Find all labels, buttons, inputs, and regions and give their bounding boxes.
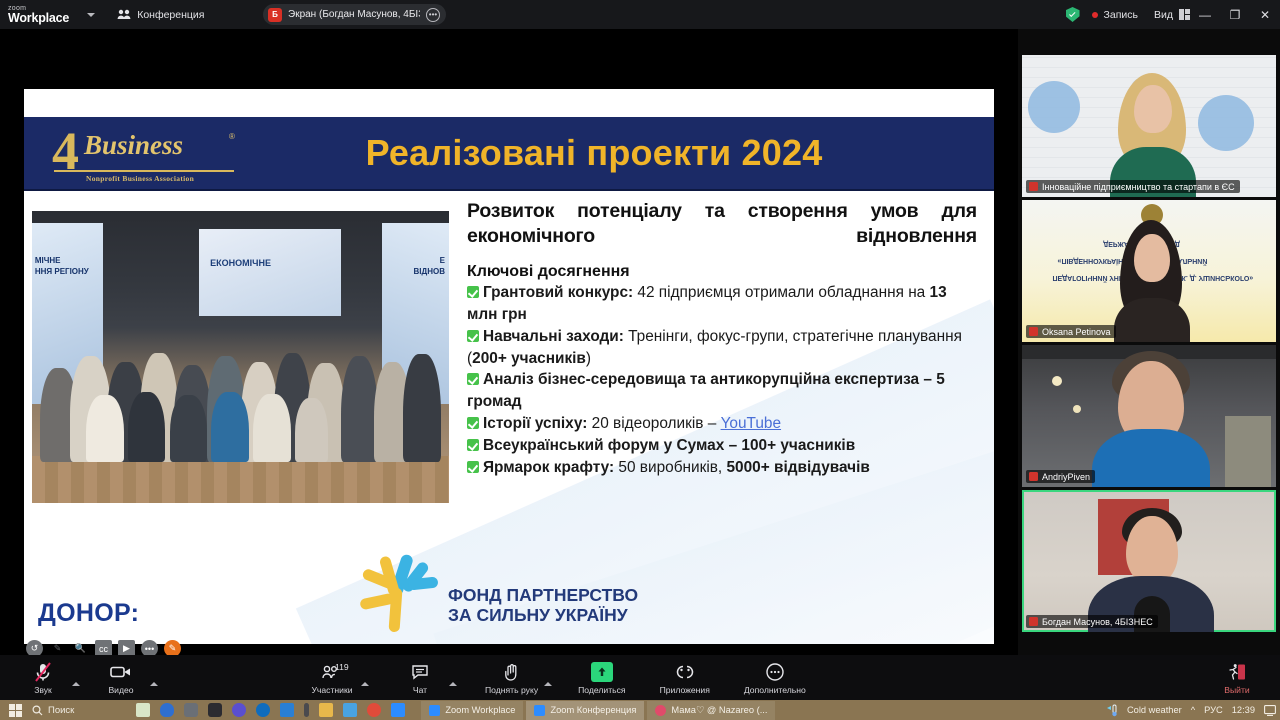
share-screen-button[interactable]: Поделиться — [572, 659, 631, 700]
photo-projection-screen: ЕКОНОМІЧНЕ — [199, 229, 341, 317]
view-label: Вид — [1154, 9, 1173, 21]
bullet-strong: 200+ учасників — [472, 350, 586, 367]
mic-muted-icon — [1029, 182, 1038, 191]
check-icon — [467, 439, 479, 451]
chrome-icon[interactable] — [367, 703, 381, 717]
windows-taskbar: Поиск Zoom Workplace Zoom Конференция — [0, 700, 1280, 720]
photo-crowd — [32, 310, 449, 462]
taskbar-window-title: Zoom Конференция — [550, 705, 636, 715]
taskbar-windows: Zoom Workplace Zoom Конференция Мама♡ @ … — [421, 701, 775, 720]
raise-hand-label: Поднять руку — [485, 685, 538, 695]
taskbar-window-zoom-meeting[interactable]: Zoom Конференция — [526, 701, 644, 720]
video-label: Видео — [108, 685, 133, 695]
microphone-muted-icon — [34, 662, 52, 682]
logo-rule — [54, 170, 234, 172]
fund-burst-icon — [354, 552, 440, 634]
meeting-tab-label: Конференция — [137, 9, 204, 21]
avatar — [1092, 429, 1210, 487]
share-screen-label: Поделиться — [578, 685, 625, 695]
fund-logo: ФОНД ПАРТНЕРСТВО ЗА СИЛЬНУ УКРАЇНУ — [354, 552, 638, 634]
list-item: Ярмарок крафту: 50 виробників, 5000+ від… — [467, 457, 977, 479]
right-controls: Выйти — [1208, 655, 1266, 700]
mic-muted-icon — [1029, 327, 1038, 336]
people-icon — [117, 9, 131, 20]
recording-dot-icon — [1092, 12, 1098, 18]
discord-app-icon[interactable] — [208, 703, 222, 717]
view-grid-icon — [1179, 9, 1190, 20]
center-controls: 119 Участники — [303, 655, 812, 700]
zoom-icon — [534, 705, 545, 716]
participants-chevron[interactable] — [361, 682, 369, 686]
check-icon — [467, 286, 479, 298]
notification-icon — [1264, 705, 1276, 716]
photo-floor — [32, 456, 449, 503]
outlook-icon[interactable] — [256, 703, 270, 717]
participants-label: Участники — [311, 685, 352, 695]
participant-name-tag: Інноваційне підприємництво та стартапи в… — [1026, 180, 1240, 193]
exit-label: Выйти — [1224, 685, 1249, 695]
fund-line-2: ЗА СИЛЬНУ УКРАЇНУ — [448, 606, 638, 626]
mic-muted-icon — [1029, 617, 1038, 626]
terminal-icon[interactable] — [304, 703, 309, 717]
raise-hand-button[interactable]: Поднять руку — [479, 659, 544, 700]
slide-text-column: Розвиток потенціалу та створення умов дл… — [467, 199, 977, 479]
apps-button[interactable]: Приложения — [654, 659, 716, 700]
check-icon — [467, 373, 479, 385]
search-placeholder: Поиск — [48, 705, 74, 716]
restore-button[interactable]: ❐ — [1220, 0, 1250, 29]
zoom-workplace-logo: zoom Workplace — [8, 5, 69, 25]
store-icon[interactable] — [343, 703, 357, 717]
share-screen-icon — [591, 662, 613, 682]
explorer-icon[interactable] — [319, 703, 333, 717]
list-item: Грантовий конкурс: 42 підприємця отримал… — [467, 282, 977, 326]
raise-hand-chevron[interactable] — [544, 682, 552, 686]
weather-icon — [1106, 704, 1118, 717]
share-pill-label: Экран (Богдан Масунов, 4БІЗНЕ — [288, 9, 420, 20]
taskbar-pinned-icons — [136, 703, 405, 717]
window-controls-group: Запись Вид — ❐ ✕ — [1066, 0, 1280, 29]
donor-label: ДОНОР: — [38, 599, 139, 628]
bullet-bold: Аналіз бізнес-середовища та антикорупцій… — [467, 371, 945, 410]
share-badge-icon: Б — [268, 8, 282, 22]
zoom-icon[interactable] — [391, 703, 405, 717]
bullet-bold: Грантовий конкурс: — [483, 284, 633, 301]
slide-top-margin — [24, 89, 994, 117]
slide-title-band: 4 Business ® Nonprofit Business Associat… — [24, 117, 994, 191]
decor-light — [1073, 405, 1081, 413]
avatar — [1134, 234, 1170, 282]
camera-icon — [110, 662, 132, 682]
audio-label: Звук — [34, 685, 52, 695]
audio-options-chevron[interactable] — [72, 682, 80, 686]
recording-label: Запись — [1104, 9, 1138, 21]
slide-body: МІЧНЕННЯ РЕГІОНУ ЕВІДНОВ ЕКОНОМІЧНЕ — [24, 191, 994, 644]
participant-name-tag: Богдан Масунов, 4БІЗНЕС — [1026, 615, 1158, 628]
zoom-top-toolbar: zoom Workplace Конференция Б Экран (Богд… — [0, 0, 1280, 29]
exit-door-icon — [1227, 662, 1247, 682]
chevron-down-icon[interactable] — [87, 13, 95, 17]
chat-button[interactable]: Чат — [391, 659, 449, 700]
more-dots-icon — [766, 662, 784, 682]
zoom-icon — [429, 705, 440, 716]
logo-word: Business — [84, 130, 183, 161]
participant-name: AndriyPiven — [1042, 472, 1090, 482]
search-icon — [32, 705, 43, 716]
taskbar-window-zoom-workplace[interactable]: Zoom Workplace — [421, 701, 523, 720]
check-icon — [467, 417, 479, 429]
decor-globe — [1198, 95, 1254, 151]
list-item: Історії успіху: 20 відеороликів – YouTub… — [467, 413, 977, 435]
4business-logo: 4 Business ® Nonprofit Business Associat… — [24, 116, 254, 190]
decor-globe — [1028, 81, 1080, 133]
security-shield-icon[interactable] — [1066, 7, 1080, 22]
raise-hand-icon — [504, 662, 520, 682]
bullet-rest: 42 підприємця отримали обладнання на — [633, 284, 929, 301]
participant-video-strip[interactable]: J Інноваційне підприємництво та стартапи… — [1018, 29, 1280, 655]
apps-label: Приложения — [660, 685, 710, 695]
video-button[interactable]: Видео — [92, 659, 150, 700]
participant-tile-active[interactable]: Богдан Масунов, 4БІЗНЕС — [1022, 490, 1276, 632]
presentation-slide: 4 Business ® Nonprofit Business Associat… — [24, 89, 994, 644]
list-item: Всеукраїнський форум у Сумах – 100+ учас… — [467, 435, 977, 457]
zoom-brand-bottom: Workplace — [8, 12, 69, 25]
chat-label: Чат — [413, 685, 427, 695]
tray-chevron-icon[interactable]: ^ — [1191, 705, 1195, 715]
shared-screen-stage[interactable]: 4 Business ® Nonprofit Business Associat… — [0, 29, 1018, 655]
bullet-bold: Історії успіху: — [483, 415, 587, 432]
exit-button[interactable]: Выйти — [1208, 659, 1266, 700]
task-view-icon[interactable] — [160, 703, 174, 717]
participant-name: Інноваційне підприємництво та стартапи в… — [1042, 182, 1235, 192]
list-item: Аналіз бізнес-середовища та антикорупцій… — [467, 369, 977, 413]
zoom-meeting-window: zoom Workplace Конференция Б Экран (Богд… — [0, 0, 1280, 720]
bullet-bold: Ярмарок крафту: — [483, 459, 614, 476]
avatar — [1126, 516, 1178, 584]
fund-name: ФОНД ПАРТНЕРСТВО ЗА СИЛЬНУ УКРАЇНУ — [448, 586, 638, 634]
bullet-rest: 20 відеороликів – — [587, 415, 720, 432]
participant-tile[interactable]: ДЕРЖАВНИЙ ЗАКЛАД «ПІВДЕННОУКРАЇНСЬКИЙ НА… — [1022, 200, 1276, 342]
decor-shelf — [1225, 416, 1271, 487]
view-button[interactable]: Вид — [1154, 9, 1190, 21]
clock[interactable]: 12:39 — [1232, 705, 1255, 715]
left-controls: Звук Видео — [14, 655, 158, 700]
weather-label[interactable]: Cold weather — [1127, 705, 1182, 715]
bullet-bold: Всеукраїнський форум у Сумах – 100+ учас… — [483, 437, 855, 454]
participant-name: Богдан Масунов, 4БІЗНЕС — [1042, 617, 1153, 627]
taskbar-tray: Cold weather ^ РУС 12:39 — [1106, 700, 1276, 720]
zoom-control-bar: Звук Видео 119 — [0, 655, 1280, 700]
apps-icon — [674, 662, 696, 682]
minimize-button[interactable]: — — [1190, 0, 1220, 29]
audio-button[interactable]: Звук — [14, 659, 72, 700]
taskbar-search[interactable]: Поиск — [32, 705, 74, 716]
avatar — [1114, 298, 1190, 342]
participants-count: 119 — [335, 662, 349, 672]
youtube-link[interactable]: YouTube — [721, 415, 781, 432]
windows-start-icon[interactable] — [0, 700, 30, 720]
bullet-rest: 50 виробників, — [614, 459, 726, 476]
fund-line-1: ФОНД ПАРТНЕРСТВО — [448, 586, 638, 606]
participant-name: Oksana Petinova — [1042, 327, 1111, 337]
discord-icon[interactable] — [232, 703, 246, 717]
paint-icon[interactable] — [136, 703, 150, 717]
group-photo: МІЧНЕННЯ РЕГІОНУ ЕВІДНОВ ЕКОНОМІЧНЕ — [32, 211, 449, 503]
taskbar-window-chat[interactable]: Мама♡ @ Nazareo (... — [647, 701, 775, 720]
list-item: Навчальні заходи: Тренінги, фокус-групи,… — [467, 326, 977, 370]
decor-light — [1052, 376, 1062, 386]
participants-button[interactable]: 119 Участники — [303, 659, 361, 700]
logo-registered: ® — [229, 132, 235, 141]
teams-icon[interactable] — [184, 703, 198, 717]
participant-name-tag: AndriyPiven — [1026, 470, 1095, 483]
slide-heading: Розвиток потенціалу та створення умов дл… — [467, 199, 977, 249]
bullet-bold: Навчальні заходи: — [483, 328, 624, 345]
check-icon — [467, 461, 479, 473]
language-indicator[interactable]: РУС — [1204, 705, 1223, 715]
avatar — [655, 705, 666, 716]
meeting-tab[interactable]: Конференция — [117, 9, 204, 21]
mic-muted-icon — [1029, 472, 1038, 481]
taskbar-window-title: Zoom Workplace — [445, 705, 515, 715]
chat-chevron[interactable] — [449, 682, 457, 686]
more-label: Дополнительно — [744, 685, 806, 695]
bullet-tail: ) — [586, 350, 591, 367]
more-options-icon[interactable]: ••• — [426, 8, 440, 22]
avatar — [1134, 85, 1172, 133]
video-options-chevron[interactable] — [150, 682, 158, 686]
chat-icon — [411, 662, 429, 682]
logo-subtitle: Nonprofit Business Association — [86, 174, 194, 183]
more-button[interactable]: Дополнительно — [738, 659, 812, 700]
slide-section-label: Ключові досягнення — [467, 263, 977, 281]
slide-title: Реалізовані проекти 2024 — [254, 132, 994, 174]
achievement-list: Грантовий конкурс: 42 підприємця отримал… — [467, 282, 977, 479]
check-icon — [467, 330, 479, 342]
participant-tile[interactable]: J Інноваційне підприємництво та стартапи… — [1022, 55, 1276, 197]
screen-share-indicator[interactable]: Б Экран (Богдан Масунов, 4БІЗНЕ ••• — [263, 4, 446, 25]
recording-status[interactable]: Запись — [1092, 9, 1138, 21]
participant-name-tag: Oksana Petinova — [1026, 325, 1116, 338]
close-button[interactable]: ✕ — [1250, 0, 1280, 29]
vscode-icon[interactable] — [280, 703, 294, 717]
participant-tile[interactable]: AndriyPiven — [1022, 345, 1276, 487]
taskbar-window-title: Мама♡ @ Nazareo (... — [671, 705, 767, 716]
bullet-strong: 5000+ відвідувачів — [726, 459, 869, 476]
